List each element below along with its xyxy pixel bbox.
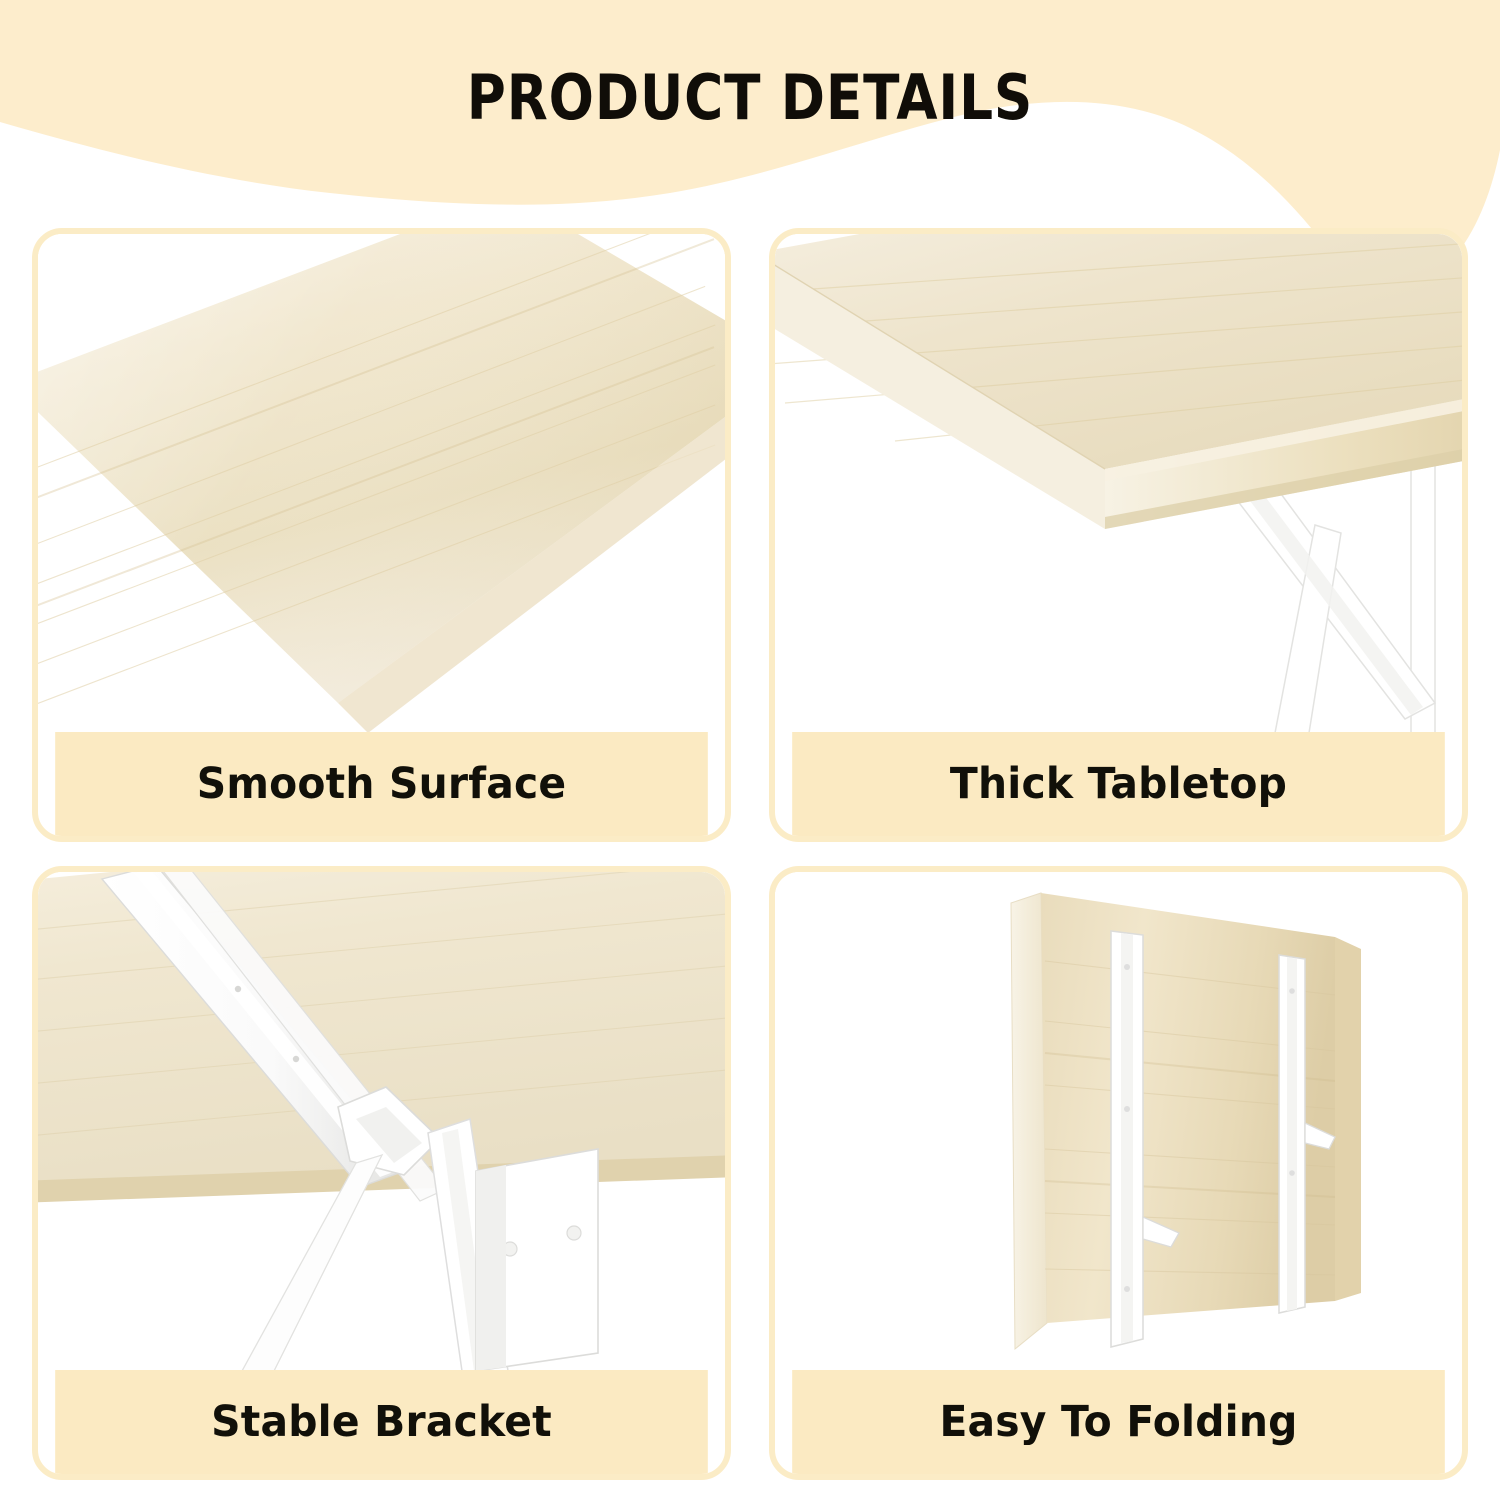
- feature-card-thick-tabletop[interactable]: Thick Tabletop: [769, 228, 1468, 842]
- card-caption-stable-bracket: Stable Bracket: [55, 1370, 708, 1474]
- card-image-smooth-surface: [38, 234, 725, 732]
- bracket-mount-plate: [476, 1149, 598, 1370]
- feature-card-stable-bracket[interactable]: Stable Bracket: [32, 866, 731, 1480]
- page-title: PRODUCT DETAILS: [105, 58, 1395, 138]
- card-image-stable-bracket: [38, 872, 725, 1370]
- card-caption-thick-tabletop: Thick Tabletop: [792, 732, 1445, 836]
- card-caption-easy-to-folding: Easy To Folding: [792, 1370, 1445, 1474]
- card-image-easy-to-folding: [775, 872, 1462, 1370]
- feature-card-easy-to-folding[interactable]: Easy To Folding: [769, 866, 1468, 1480]
- feature-card-grid: Smooth Surface: [32, 228, 1468, 1480]
- folded-table-icon: [1011, 893, 1361, 1349]
- card-image-thick-tabletop: [775, 234, 1462, 732]
- feature-card-smooth-surface[interactable]: Smooth Surface: [32, 228, 731, 842]
- card-caption-smooth-surface: Smooth Surface: [55, 732, 708, 836]
- product-details-page: PRODUCT DETAILS: [0, 0, 1500, 1500]
